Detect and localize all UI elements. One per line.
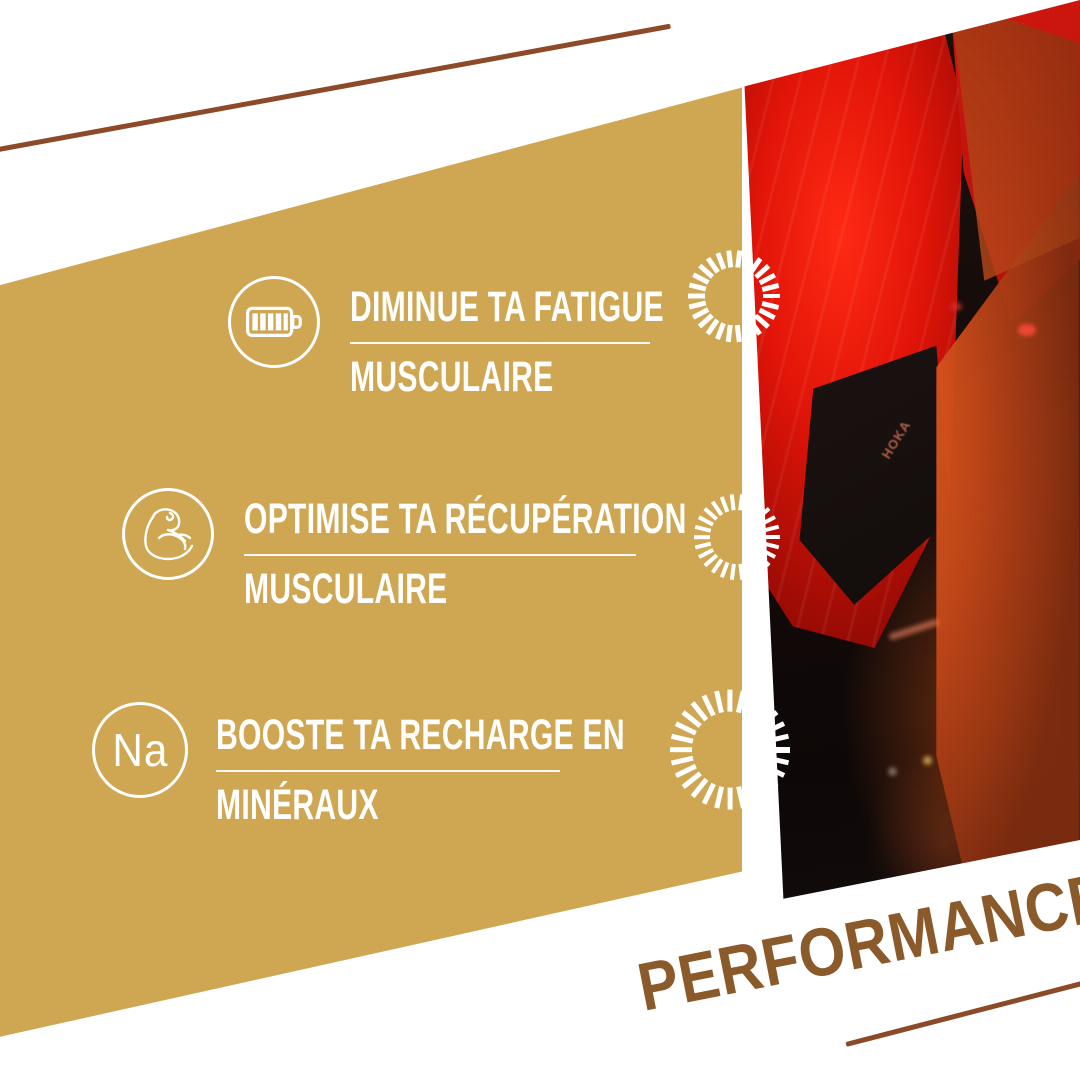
sunburst-tick <box>768 747 790 752</box>
sunburst-tick <box>720 562 730 578</box>
sunburst-tick <box>763 541 780 549</box>
flexed-bicep-icon <box>122 488 214 580</box>
sunburst-tick <box>695 525 712 533</box>
sunburst-tick <box>726 250 733 267</box>
feature-icon-wrap: Na <box>92 702 188 798</box>
sunburst-marker-1 <box>686 248 782 344</box>
feature-text-mineraux: BOOSTE TA RECHARGE EN MINÉRAUX <box>216 702 716 827</box>
sunburst-tick <box>738 494 744 510</box>
battery-icon <box>228 276 320 368</box>
feature-line2: MINÉRAUX <box>216 784 566 827</box>
card-stage: HOKA <box>0 0 1080 1080</box>
feature-row-mineraux: Na BOOSTE TA RECHARGE EN MINÉRAUX <box>92 702 716 827</box>
sunburst-tick <box>738 564 744 580</box>
sodium-symbol-label: Na <box>112 727 168 773</box>
feature-line2: MUSCULAIRE <box>350 356 651 399</box>
sunburst-marker-3 <box>668 688 792 812</box>
sunburst-tick <box>766 756 789 766</box>
sunburst-tick <box>727 690 732 712</box>
feature-icon-wrap <box>228 276 320 368</box>
feature-line1: BOOSTE TA RECHARGE EN <box>216 714 566 757</box>
sunburst-tick <box>763 525 780 533</box>
feature-underline <box>244 554 636 556</box>
sunburst-tick <box>764 535 780 539</box>
feature-underline <box>350 342 650 344</box>
sunburst-tick <box>726 325 733 342</box>
sunburst-marker-2 <box>692 492 782 582</box>
sodium-na-icon: Na <box>92 702 188 798</box>
sunburst-tick <box>766 734 789 744</box>
sunburst-tick <box>730 564 736 580</box>
sunburst-tick <box>671 734 694 744</box>
feature-line1: DIMINUE TA FATIGUE <box>350 286 651 329</box>
feature-icon-wrap <box>122 488 214 580</box>
sunburst-tick <box>735 325 742 342</box>
sunburst-tick <box>763 294 780 299</box>
sunburst-tick <box>671 756 694 766</box>
sunburst-tick <box>714 786 724 809</box>
sunburst-tick <box>762 301 780 309</box>
sunburst-tick <box>735 250 742 267</box>
sunburst-tick <box>727 788 732 810</box>
feature-line1: OPTIMISE TA RÉCUPÉRATION <box>244 498 636 541</box>
sunburst-tick <box>736 786 746 809</box>
sunburst-tick <box>694 535 710 539</box>
sunburst-tick <box>670 747 692 752</box>
feature-underline <box>216 770 560 772</box>
sunburst-tick <box>689 283 707 291</box>
sunburst-tick <box>762 283 780 291</box>
sunburst-tick <box>730 494 736 510</box>
sunburst-tick <box>716 322 726 339</box>
sunburst-tick <box>689 301 707 309</box>
sunburst-tick <box>688 294 705 299</box>
feature-line2: MUSCULAIRE <box>244 568 636 611</box>
sunburst-tick <box>736 691 746 714</box>
sunburst-tick <box>714 691 724 714</box>
